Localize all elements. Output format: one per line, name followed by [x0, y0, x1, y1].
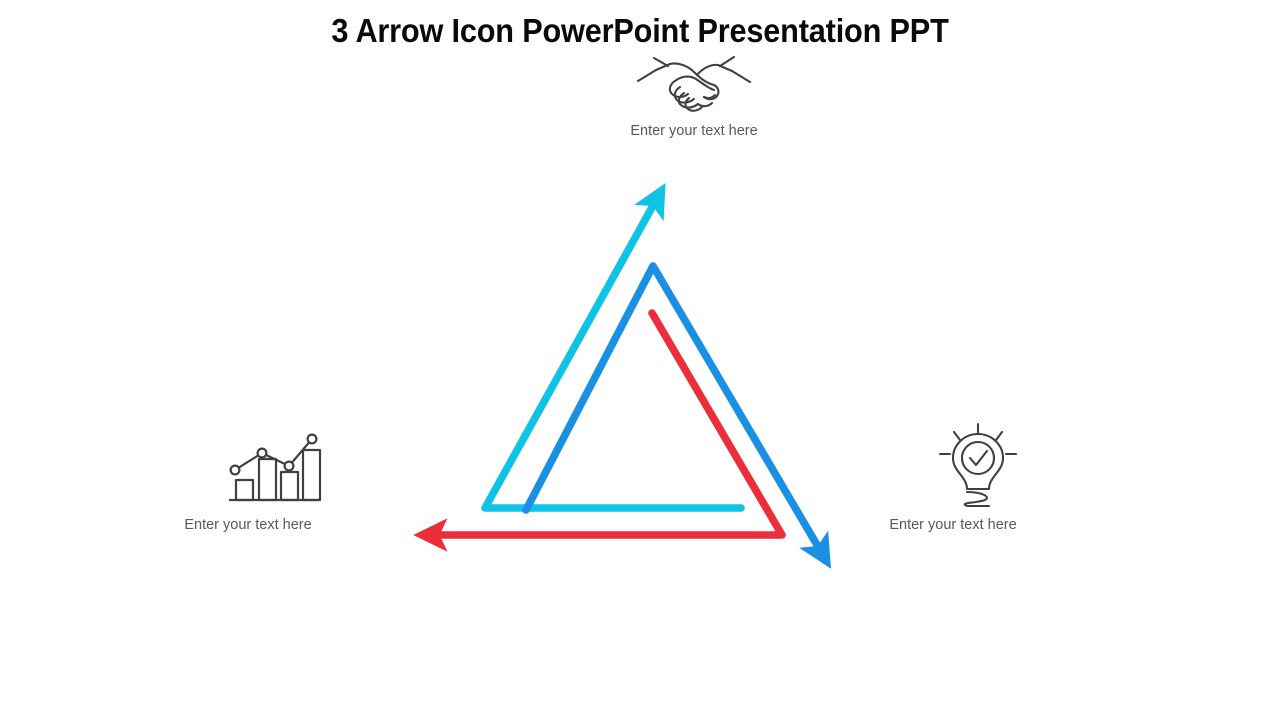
bar-chart-line-icon: [221, 424, 327, 506]
page-title: 3 Arrow Icon PowerPoint Presentation PPT: [45, 12, 1235, 50]
node-top-label: Enter your text here: [594, 123, 794, 139]
triangle-arrow-diagram: [400, 180, 860, 590]
lightbulb-check-icon: [934, 420, 1022, 512]
handshake-icon: [634, 52, 754, 114]
slide-canvas: 3 Arrow Icon PowerPoint Presentation PPT: [0, 0, 1280, 720]
node-right-label: Enter your text here: [853, 517, 1053, 533]
node-left-label: Enter your text here: [148, 517, 348, 533]
